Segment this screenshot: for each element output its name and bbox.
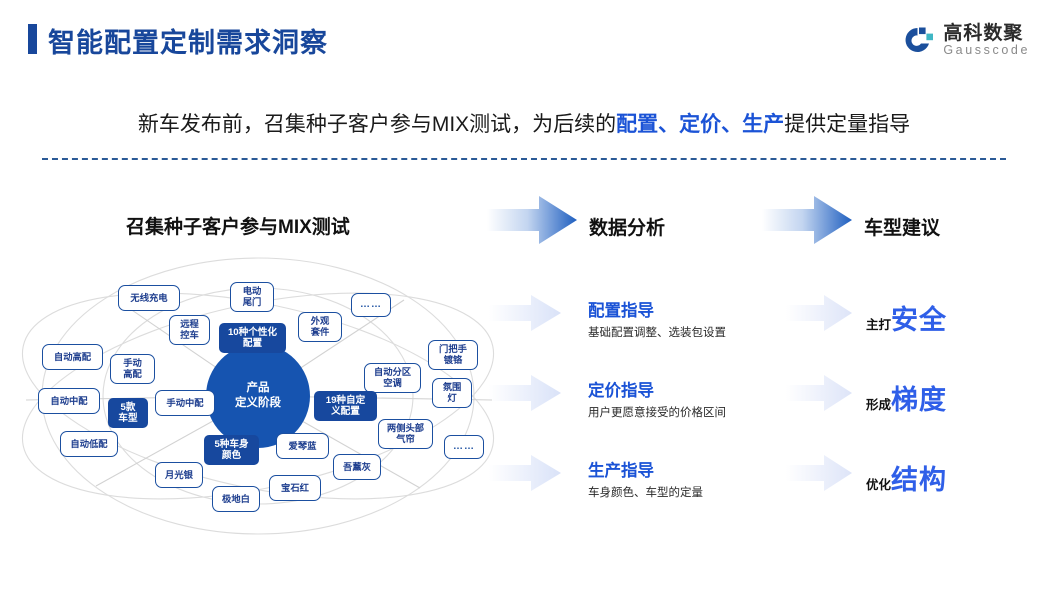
analysis-item: 配置指导基础配置调整、选装包设置 bbox=[588, 297, 726, 340]
advice-item-keyword: 结构 bbox=[891, 458, 947, 497]
subtitle-part2: 提供定量指导 bbox=[784, 113, 910, 136]
mindmap-node: …… bbox=[444, 435, 484, 459]
analysis-item-title: 配置指导 bbox=[588, 297, 726, 321]
analysis-item: 定价指导用户更愿意接受的价格区间 bbox=[588, 377, 726, 420]
advice-item-prefix: 主打 bbox=[866, 314, 891, 333]
logo-text-en: Gausscode bbox=[943, 44, 1030, 57]
slide-header: 智能配置定制需求洞察 高科数聚 Gausscode bbox=[0, 0, 1048, 78]
advice-item-keyword: 梯度 bbox=[891, 378, 947, 417]
product-definition-mindmap: 产品 定义阶段 无线充电电动 尾门……远程 控车10种个性化 配置外观 套件自动… bbox=[0, 250, 520, 540]
advice-item-prefix: 优化 bbox=[866, 474, 891, 493]
mindmap-node: 极地白 bbox=[212, 486, 260, 512]
analysis-item-subtitle: 用户更愿意接受的价格区间 bbox=[588, 404, 726, 420]
mindmap-node: 自动高配 bbox=[42, 344, 103, 370]
flow-arrow-header-1 bbox=[487, 196, 577, 244]
advice-item: 主打安全 bbox=[866, 298, 947, 337]
analysis-item: 生产指导车身颜色、车型的定量 bbox=[588, 457, 703, 500]
mindmap-node: 手动 高配 bbox=[110, 354, 155, 384]
mindmap-node: 19种自定 义配置 bbox=[314, 391, 377, 421]
mindmap-node: 外观 套件 bbox=[298, 312, 342, 342]
mindmap-node: 5种车身 颜色 bbox=[204, 435, 259, 465]
subtitle-part1: 新车发布前，召集种子客户参与MIX测试，为后续的 bbox=[138, 113, 616, 136]
subtitle-highlight: 配置、定价、生产 bbox=[616, 113, 784, 136]
mindmap-node: 氛围 灯 bbox=[432, 378, 472, 408]
advice-item: 优化结构 bbox=[866, 458, 947, 497]
mindmap-node: 自动分区 空调 bbox=[364, 363, 421, 393]
column-header-model-advice: 车型建议 bbox=[864, 213, 940, 240]
analysis-item-title: 生产指导 bbox=[588, 457, 703, 481]
analysis-item-title: 定价指导 bbox=[588, 377, 726, 401]
brand-logo: 高科数聚 Gausscode bbox=[900, 18, 1030, 64]
mindmap-node: 宝石红 bbox=[269, 475, 321, 501]
mindmap-node: …… bbox=[351, 293, 391, 317]
flow-arrow-row3-right bbox=[786, 455, 852, 491]
flow-arrow-header-2 bbox=[762, 196, 852, 244]
subtitle: 新车发布前，召集种子客户参与MIX测试，为后续的配置、定价、生产提供定量指导 bbox=[0, 108, 1048, 138]
mindmap-node: 两侧头部 气帘 bbox=[378, 419, 433, 449]
flow-arrow-row1-right bbox=[786, 295, 852, 331]
analysis-item-subtitle: 基础配置调整、选装包设置 bbox=[588, 324, 726, 340]
mindmap-node: 吾薰灰 bbox=[333, 454, 381, 480]
section-divider bbox=[42, 158, 1006, 160]
mindmap-node: 爱琴蓝 bbox=[276, 433, 329, 459]
mindmap-node: 电动 尾门 bbox=[230, 282, 274, 312]
mindmap-node: 10种个性化 配置 bbox=[219, 323, 286, 353]
advice-item: 形成梯度 bbox=[866, 378, 947, 417]
mindmap-node: 远程 控车 bbox=[169, 315, 210, 345]
mindmap-node: 月光银 bbox=[155, 462, 203, 488]
mindmap-node: 无线充电 bbox=[118, 285, 180, 311]
page-title: 智能配置定制需求洞察 bbox=[48, 21, 328, 60]
mindmap-node: 自动中配 bbox=[38, 388, 100, 414]
column-header-data-analysis: 数据分析 bbox=[589, 213, 665, 240]
mindmap-node: 门把手 镀铬 bbox=[428, 340, 478, 370]
mindmap-node: 5款 车型 bbox=[108, 398, 148, 428]
mindmap-node: 自动低配 bbox=[60, 431, 118, 457]
analysis-item-subtitle: 车身颜色、车型的定量 bbox=[588, 484, 703, 500]
flow-arrow-row2-right bbox=[786, 375, 852, 411]
title-accent-bar bbox=[28, 24, 37, 54]
gausscode-logo-icon bbox=[900, 24, 934, 58]
advice-item-keyword: 安全 bbox=[891, 298, 947, 337]
advice-item-prefix: 形成 bbox=[866, 394, 891, 413]
column-header-mix-test: 召集种子客户参与MIX测试 bbox=[126, 212, 350, 239]
logo-text-cn: 高科数聚 bbox=[943, 24, 1030, 44]
mindmap-node: 手动中配 bbox=[155, 390, 215, 416]
